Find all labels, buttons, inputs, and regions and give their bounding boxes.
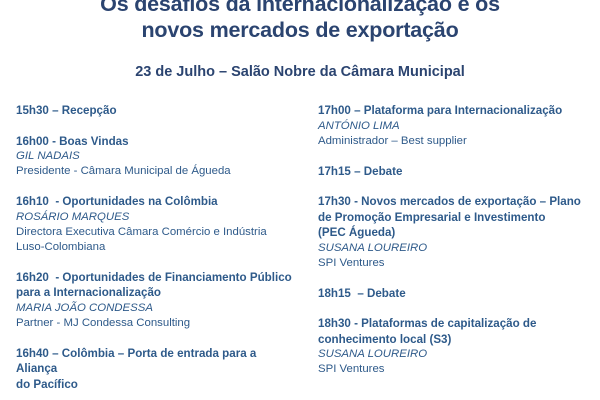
- program-entry-role: Presidente - Câmara Municipal de Águeda: [16, 164, 294, 179]
- program-entry: 16h40 – Colômbia – Porta de entrada para…: [16, 346, 294, 393]
- program-entry: 16h20 - Oportunidades de Financiamento P…: [16, 270, 294, 331]
- program-entry: 17h30 - Novos mercados de exportação – P…: [318, 194, 594, 271]
- program-entry-title: 16h20 - Oportunidades de Financiamento P…: [16, 270, 294, 301]
- event-subtitle: 23 de Julho – Salão Nobre da Câmara Muni…: [20, 43, 580, 81]
- program-entry-role: SPI Ventures: [318, 362, 594, 377]
- program-entry-speaker: ANTÓNIO LIMA: [318, 119, 594, 134]
- program-entry-role: SPI Ventures: [318, 256, 594, 271]
- program-entry: 16h10 - Oportunidades na ColômbiaROSÁRIO…: [16, 194, 294, 255]
- program-entry-title: 16h10 - Oportunidades na Colômbia: [16, 194, 294, 210]
- program-entry-role: Directora Executiva Câmara Comércio e In…: [16, 225, 294, 255]
- page-title: Os desafios da internacionalização e os …: [20, 0, 580, 43]
- program-entry-title: 17h30 - Novos mercados de exportação – P…: [318, 194, 594, 241]
- program-entry-title: 16h00 - Boas Vindas: [16, 134, 294, 150]
- program-entry-title: 15h30 – Recepção: [16, 103, 294, 119]
- program-entry-speaker: SUSANA LOUREIRO: [318, 347, 594, 362]
- program-entry-speaker: SUSANA LOUREIRO: [318, 241, 594, 256]
- program-entry-title: 18h30 - Plataformas de capitalização de …: [318, 316, 594, 347]
- event-header: Os desafios da internacionalização e os …: [0, 0, 600, 81]
- page-title-line-1: Os desafios da internacionalização e os: [20, 0, 580, 17]
- program-entry: 18h15 – Debate: [318, 286, 594, 302]
- program-entry-speaker: MARIA JOÃO CONDESSA: [16, 301, 294, 316]
- program-entry-title: 17h15 – Debate: [318, 164, 594, 180]
- program-entry: 17h00 – Plataforma para Internacionaliza…: [318, 103, 594, 149]
- program-entry-speaker: GIL NADAIS: [16, 149, 294, 164]
- program-column-left: 15h30 – Recepção16h00 - Boas VindasGIL N…: [0, 103, 300, 392]
- page-title-line-2: novos mercados de exportação: [20, 17, 580, 43]
- program-column-right: 17h00 – Plataforma para Internacionaliza…: [300, 103, 600, 377]
- program-entry-role: Administrador – Best supplier: [318, 134, 594, 149]
- program-entry-title: 17h00 – Plataforma para Internacionaliza…: [318, 103, 594, 119]
- program-entry: 17h15 – Debate: [318, 164, 594, 180]
- program-entry-role: Partner - MJ Condessa Consulting: [16, 316, 294, 331]
- program-entry-speaker: ROSÁRIO MARQUES: [16, 210, 294, 225]
- program-entry: 16h00 - Boas VindasGIL NADAISPresidente …: [16, 134, 294, 180]
- program-entry: 15h30 – Recepção: [16, 103, 294, 119]
- program-entry-title: 18h15 – Debate: [318, 286, 594, 302]
- program-entry-title: 16h40 – Colômbia – Porta de entrada para…: [16, 346, 294, 393]
- program-schedule: 15h30 – Recepção16h00 - Boas VindasGIL N…: [0, 103, 600, 391]
- program-entry: 18h30 - Plataformas de capitalização de …: [318, 316, 594, 377]
